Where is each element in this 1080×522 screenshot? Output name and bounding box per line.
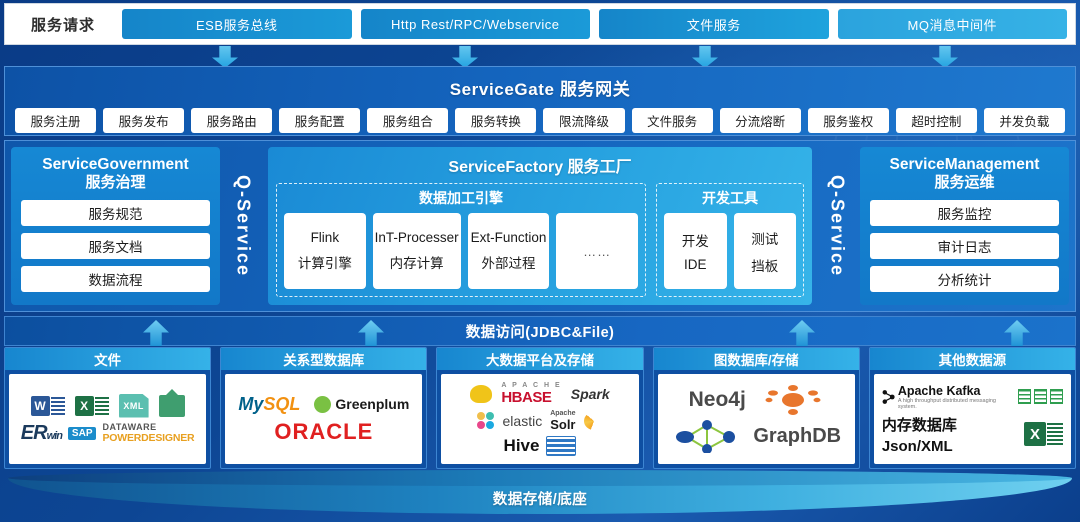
source-card-relational-db-title: 关系型数据库 <box>221 348 426 370</box>
kafka-icon <box>882 389 895 405</box>
solr-logo: ApacheSolr <box>550 410 575 432</box>
source-card-file-logos: W X XML ERwin SAP DATAW <box>9 374 206 464</box>
storage-platform-label: 数据存储/底座 <box>493 488 588 509</box>
service-request-title: 服务请求 <box>13 14 113 35</box>
data-access-label: 数据访问(JDBC&File) <box>466 321 615 342</box>
flow-arrow-down-2 <box>452 46 478 68</box>
tools-card-develop-name: 开发 <box>682 230 709 250</box>
erwin-logo: ERwin <box>21 422 62 445</box>
data-processing-engine-title: 数据加工引擎 <box>284 188 638 208</box>
json-xml-label: Json/XML <box>882 438 957 455</box>
tools-card-row: 开发 IDE 测试 挡板 <box>664 213 796 289</box>
service-management-title: ServiceManagement 服务运维 <box>870 155 1059 193</box>
request-channel-mq[interactable]: MQ消息中间件 <box>838 9 1068 39</box>
q-service-label-right: Q-Service <box>814 147 860 305</box>
service-gate-title: ServiceGate 服务网关 <box>5 67 1075 100</box>
sap-logo: SAP <box>68 427 97 440</box>
green-table-icons <box>1018 389 1063 404</box>
hbase-logo: A P A C H EHBASE <box>501 382 561 406</box>
source-card-file[interactable]: 文件 W X XML ERwin <box>4 347 211 469</box>
spark-logo: Spark <box>571 386 610 402</box>
neo4j-logo: Neo4j <box>689 388 746 412</box>
q-service-text-left: Q-Service <box>233 175 254 277</box>
governance-item-service-doc[interactable]: 服务文档 <box>21 233 210 259</box>
tools-card-test-mock[interactable]: 测试 挡板 <box>734 213 797 289</box>
service-government-title: ServiceGovernment 服务治理 <box>21 155 210 193</box>
gate-capability-service-publish[interactable]: 服务发布 <box>103 108 184 133</box>
gate-capability-service-compose[interactable]: 服务组合 <box>367 108 448 133</box>
service-request-bar: 服务请求 ESB服务总线 Http Rest/RPC/Webservice 文件… <box>4 3 1076 45</box>
source-card-bigdata-logos: A P A C H EHBASE Spark elastic <box>441 374 638 464</box>
tools-card-test-desc: 挡板 <box>751 255 778 275</box>
source-card-bigdata-title: 大数据平台及存储 <box>437 348 642 370</box>
gate-capability-circuit-breaker[interactable]: 分流熔断 <box>720 108 801 133</box>
engine-card-int-processer-name: InT-Processer <box>375 230 459 245</box>
tools-card-develop-ide[interactable]: 开发 IDE <box>664 213 727 289</box>
gate-capability-rate-limit[interactable]: 限流降级 <box>543 108 624 133</box>
gate-capability-concurrency[interactable]: 并发负载 <box>984 108 1065 133</box>
source-card-graph-db-logos: Neo4j <box>658 374 855 464</box>
management-item-service-monitor[interactable]: 服务监控 <box>870 200 1059 226</box>
excel-icon: X <box>75 396 109 416</box>
oracle-logo: ORACLE <box>274 419 373 445</box>
word-icon: W <box>31 396 65 416</box>
service-gate-section: ServiceGate 服务网关 服务注册 服务发布 服务路由 服务配置 服务组… <box>4 66 1076 136</box>
source-card-other[interactable]: 其他数据源 Apache Kafka A high throu <box>869 347 1076 469</box>
tools-card-develop-desc: IDE <box>684 257 707 272</box>
service-platform-band: ServiceGovernment 服务治理 服务规范 服务文档 数据流程 Q-… <box>4 140 1076 312</box>
mysql-logo: MySQL <box>238 394 300 415</box>
development-tools-title: 开发工具 <box>664 188 796 208</box>
service-management-title-en: ServiceManagement <box>890 156 1040 173</box>
flow-arrow-down-4 <box>932 46 958 68</box>
storage-platform-base: 数据存储/底座 <box>8 470 1072 516</box>
development-tools-box: 开发工具 开发 IDE 测试 挡板 <box>656 183 804 297</box>
q-service-label-left: Q-Service <box>220 147 266 305</box>
management-item-audit-log[interactable]: 审计日志 <box>870 233 1059 259</box>
engine-card-flink[interactable]: Flink 计算引擎 <box>284 213 366 289</box>
powerdesigner-logo: POWERDESIGNER <box>102 432 194 444</box>
tools-card-test-name: 测试 <box>751 228 778 248</box>
source-card-relational-db[interactable]: 关系型数据库 MySQL Greenplum ORACLE <box>220 347 427 469</box>
hive-logo: Hive <box>504 436 540 456</box>
engine-card-ext-function-desc: 外部过程 <box>482 252 536 272</box>
hive-doc-icon <box>546 436 576 456</box>
gate-capability-service-route[interactable]: 服务路由 <box>191 108 272 133</box>
hive-elephant-icon <box>470 385 492 403</box>
green-file-icon <box>159 395 185 417</box>
engine-card-flink-name: Flink <box>311 230 340 245</box>
source-card-other-logos: Apache Kafka A high throughput distribut… <box>874 374 1071 464</box>
flow-arrow-down-1 <box>212 46 238 68</box>
q-service-text-right: Q-Service <box>827 175 848 277</box>
xml-file-icon: XML <box>119 394 149 418</box>
engine-card-ext-function-name: Ext-Function <box>471 230 547 245</box>
engine-card-int-processer[interactable]: InT-Processer 内存计算 <box>373 213 461 289</box>
memory-db-label: 内存数据库 <box>882 414 957 435</box>
neo4j-graph-icon <box>671 419 743 453</box>
engine-card-int-processer-desc: 内存计算 <box>390 252 444 272</box>
service-management-title-cn: 服务运维 <box>870 174 1059 193</box>
service-gate-capability-row: 服务注册 服务发布 服务路由 服务配置 服务组合 服务转换 限流降级 文件服务 … <box>5 100 1075 133</box>
gate-capability-service-config[interactable]: 服务配置 <box>279 108 360 133</box>
request-channel-http[interactable]: Http Rest/RPC/Webservice <box>361 9 591 39</box>
architecture-diagram: 服务请求 ESB服务总线 Http Rest/RPC/Webservice 文件… <box>0 0 1080 522</box>
service-factory-body: 数据加工引擎 Flink 计算引擎 InT-Processer 内存计算 Ext… <box>276 183 804 297</box>
flow-arrow-down-3 <box>692 46 718 68</box>
graphdb-logo: GraphDB <box>753 425 841 448</box>
data-source-card-row: 文件 W X XML ERwin <box>4 347 1076 469</box>
engine-card-flink-desc: 计算引擎 <box>298 252 352 272</box>
source-card-relational-db-logos: MySQL Greenplum ORACLE <box>225 374 422 464</box>
gate-capability-auth[interactable]: 服务鉴权 <box>808 108 889 133</box>
kafka-logo: Apache Kafka <box>898 384 1008 398</box>
service-factory-panel: ServiceFactory 服务工厂 数据加工引擎 Flink 计算引擎 In… <box>268 147 812 305</box>
elasticsearch-icon <box>477 412 495 430</box>
greenplum-logo: Greenplum <box>314 396 409 413</box>
solr-sunburst-icon <box>584 412 604 430</box>
request-channel-file[interactable]: 文件服务 <box>599 9 829 39</box>
gate-capability-service-transform[interactable]: 服务转换 <box>455 108 536 133</box>
source-card-other-title: 其他数据源 <box>870 348 1075 370</box>
gate-capability-file-service[interactable]: 文件服务 <box>632 108 713 133</box>
excel-icon-other: X <box>1024 422 1063 446</box>
source-card-bigdata[interactable]: 大数据平台及存储 A P A C H EHBASE Spark <box>436 347 643 469</box>
engine-card-ext-function[interactable]: Ext-Function 外部过程 <box>468 213 550 289</box>
governance-item-data-flow[interactable]: 数据流程 <box>21 266 210 292</box>
storage-platform-top <box>8 470 1072 486</box>
source-card-graph-db[interactable]: 图数据库/存储 Neo4j <box>653 347 860 469</box>
service-government-panel: ServiceGovernment 服务治理 服务规范 服务文档 数据流程 <box>11 147 220 305</box>
gate-capability-timeout[interactable]: 超时控制 <box>896 108 977 133</box>
source-card-file-title: 文件 <box>5 348 210 370</box>
elastic-logo: elastic <box>503 413 543 429</box>
management-item-analytics[interactable]: 分析统计 <box>870 266 1059 292</box>
engine-card-more-label: …… <box>583 244 611 259</box>
service-factory-title: ServiceFactory 服务工厂 <box>276 153 804 177</box>
service-government-title-cn: 服务治理 <box>21 174 210 193</box>
graphdb-burst-icon <box>762 385 824 415</box>
engine-card-more[interactable]: …… <box>556 213 638 289</box>
service-management-panel: ServiceManagement 服务运维 服务监控 审计日志 分析统计 <box>860 147 1069 305</box>
dataware-logo: DATAWARE <box>102 422 156 432</box>
engine-card-row: Flink 计算引擎 InT-Processer 内存计算 Ext-Functi… <box>284 213 638 289</box>
service-government-title-en: ServiceGovernment <box>42 156 188 173</box>
kafka-tagline: A high throughput distributed messaging … <box>898 398 1008 410</box>
data-processing-engine-box: 数据加工引擎 Flink 计算引擎 InT-Processer 内存计算 Ext… <box>276 183 646 297</box>
gate-capability-service-register[interactable]: 服务注册 <box>15 108 96 133</box>
source-card-graph-db-title: 图数据库/存储 <box>654 348 859 370</box>
governance-item-service-spec[interactable]: 服务规范 <box>21 200 210 226</box>
request-channel-esb[interactable]: ESB服务总线 <box>122 9 352 39</box>
